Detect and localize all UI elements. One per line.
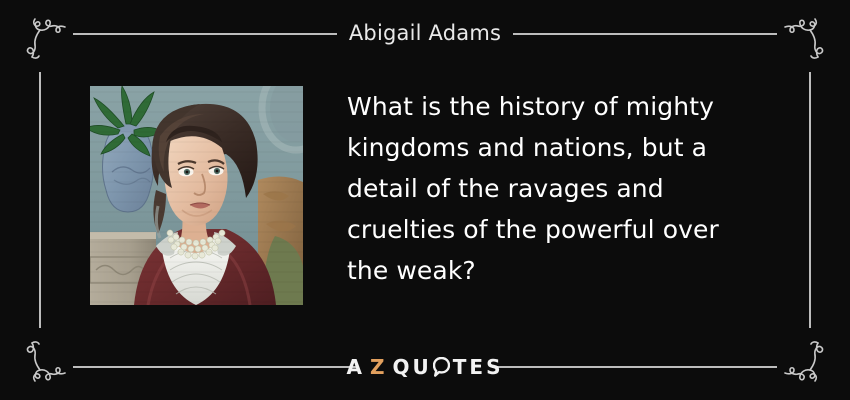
frame-line-right [809,72,811,328]
author-portrait-image [90,86,303,305]
quote-body-text: What is the history of mighty kingdoms a… [347,86,767,291]
logo-word-part-1: QU [393,357,432,377]
logo-word-quotes: QU TES [393,357,504,377]
speech-bubble-icon [433,357,450,377]
logo-word-part-2: TES [453,357,504,377]
frame-line-left [39,72,41,328]
az-quotes-logo[interactable]: A Z QU TES [0,354,850,380]
page-title: Abigail Adams [0,18,850,48]
quote-card: Abigail Adams [0,0,850,400]
logo-letter-a: A [347,357,363,377]
logo-letter-z: Z [370,357,386,377]
